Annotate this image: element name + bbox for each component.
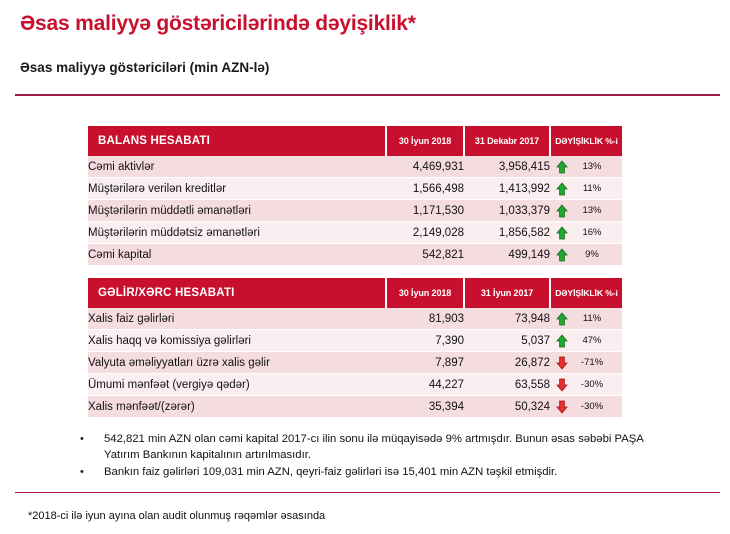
arrow-up-icon xyxy=(556,334,568,348)
row-value-2: 5,037 xyxy=(464,330,550,352)
arrow-up-icon xyxy=(556,160,568,174)
arrow-up-icon xyxy=(556,204,568,218)
row-label: Xalis faiz gəlirləri xyxy=(88,308,386,330)
row-label: Cəmi kapital xyxy=(88,244,386,266)
row-change-pct: 11% xyxy=(568,183,622,194)
row-change-pct: 11% xyxy=(568,313,622,324)
table-header-row: BALANS HESABATI 30 İyun 2018 31 Dekabr 2… xyxy=(88,126,622,156)
income-statement-body: Xalis faiz gəlirləri 81,903 73,948 11% X… xyxy=(88,308,622,418)
row-change: 11% xyxy=(550,308,622,330)
footnote: *2018-ci ilə iyun ayına olan audit olunm… xyxy=(28,510,325,522)
table-row: Ümumi mənfəət (vergiyə qədər) 44,227 63,… xyxy=(88,374,622,396)
row-label: Valyuta əməliyyatları üzrə xalis gəlir xyxy=(88,352,386,374)
arrow-down-icon xyxy=(556,356,568,370)
income-statement-table: GƏLİR/XƏRC HESABATI 30 İyun 2018 31 İyun… xyxy=(88,278,622,418)
bullet-marker: • xyxy=(78,465,104,480)
arrow-down-icon xyxy=(556,378,568,392)
row-label: Müştərilərin müddətli əmanətləri xyxy=(88,200,386,222)
arrow-down-icon xyxy=(556,400,568,414)
row-change-pct: -30% xyxy=(568,379,622,390)
table-row: Xalis haqq və komissiya gəlirləri 7,390 … xyxy=(88,330,622,352)
arrow-up-icon xyxy=(556,226,568,240)
row-change-pct: -71% xyxy=(568,357,622,368)
table-row: Cəmi aktivlər 4,469,931 3,958,415 13% xyxy=(88,156,622,178)
row-change: 47% xyxy=(550,330,622,352)
row-value-2: 1,413,992 xyxy=(464,178,550,200)
divider-bottom xyxy=(15,492,720,493)
row-label: Xalis mənfəət/(zərər) xyxy=(88,396,386,418)
bullet-text: Bankın faiz gəlirləri 109,031 min AZN, q… xyxy=(104,465,678,481)
row-value-2: 73,948 xyxy=(464,308,550,330)
table-header-row: GƏLİR/XƏRC HESABATI 30 İyun 2018 31 İyun… xyxy=(88,278,622,308)
row-value-2: 1,033,379 xyxy=(464,200,550,222)
divider-top xyxy=(15,94,720,96)
row-value-1: 44,227 xyxy=(386,374,464,396)
row-change-pct: 9% xyxy=(568,249,622,260)
table-row: Müştərilərin müddətli əmanətləri 1,171,5… xyxy=(88,200,622,222)
balance-sheet-header: BALANS HESABATI 30 İyun 2018 31 Dekabr 2… xyxy=(88,126,622,156)
row-value-1: 7,897 xyxy=(386,352,464,374)
financial-tables: BALANS HESABATI 30 İyun 2018 31 Dekabr 2… xyxy=(88,126,622,418)
row-value-2: 26,872 xyxy=(464,352,550,374)
row-change-pct: 47% xyxy=(568,335,622,346)
row-change: 9% xyxy=(550,244,622,266)
row-label: Xalis haqq və komissiya gəlirləri xyxy=(88,330,386,352)
row-change: 16% xyxy=(550,222,622,244)
slide-root: Əsas maliyyə göstəricilərində dəyişiklik… xyxy=(0,0,730,534)
row-change: -71% xyxy=(550,352,622,374)
row-change: 13% xyxy=(550,200,622,222)
row-value-1: 1,566,498 xyxy=(386,178,464,200)
arrow-up-icon xyxy=(556,312,568,326)
row-change-pct: 13% xyxy=(568,205,622,216)
income-header-col1: 30 İyun 2018 xyxy=(386,278,464,308)
income-header-label: GƏLİR/XƏRC HESABATI xyxy=(88,278,386,308)
balance-sheet-body: Cəmi aktivlər 4,469,931 3,958,415 13% Mü… xyxy=(88,156,622,266)
row-value-1: 35,394 xyxy=(386,396,464,418)
row-change: -30% xyxy=(550,374,622,396)
row-change: -30% xyxy=(550,396,622,418)
table-row: Cəmi kapital 542,821 499,149 9% xyxy=(88,244,622,266)
row-change-pct: 16% xyxy=(568,227,622,238)
row-label: Müştərilərin müddətsiz əmanətləri xyxy=(88,222,386,244)
page-title: Əsas maliyyə göstəricilərində dəyişiklik… xyxy=(20,12,416,36)
notes-list: • 542,821 min AZN olan cəmi kapital 2017… xyxy=(78,432,678,483)
table-row: Valyuta əməliyyatları üzrə xalis gəlir 7… xyxy=(88,352,622,374)
table-row: Müştərilərin müddətsiz əmanətləri 2,149,… xyxy=(88,222,622,244)
row-change-pct: 13% xyxy=(568,161,622,172)
bullet-marker: • xyxy=(78,432,104,447)
row-value-1: 1,171,530 xyxy=(386,200,464,222)
page-subtitle: Əsas maliyyə göstəriciləri (min AZN-lə) xyxy=(20,60,269,75)
table-gap xyxy=(88,266,622,278)
row-value-2: 499,149 xyxy=(464,244,550,266)
income-statement-header: GƏLİR/XƏRC HESABATI 30 İyun 2018 31 İyun… xyxy=(88,278,622,308)
row-value-1: 4,469,931 xyxy=(386,156,464,178)
balance-header-col2: 31 Dekabr 2017 xyxy=(464,126,550,156)
table-row: Xalis mənfəət/(zərər) 35,394 50,324 -30% xyxy=(88,396,622,418)
row-change: 11% xyxy=(550,178,622,200)
arrow-up-icon xyxy=(556,182,568,196)
row-value-1: 542,821 xyxy=(386,244,464,266)
balance-header-col1: 30 İyun 2018 xyxy=(386,126,464,156)
row-value-1: 7,390 xyxy=(386,330,464,352)
row-value-1: 2,149,028 xyxy=(386,222,464,244)
row-value-2: 63,558 xyxy=(464,374,550,396)
table-row: Müştərilərə verilən kreditlər 1,566,498 … xyxy=(88,178,622,200)
income-header-col2: 31 İyun 2017 xyxy=(464,278,550,308)
row-label: Ümumi mənfəət (vergiyə qədər) xyxy=(88,374,386,396)
income-header-change: DƏYİŞİKLİK %-i xyxy=(550,278,622,308)
list-item: • Bankın faiz gəlirləri 109,031 min AZN,… xyxy=(78,465,678,481)
balance-header-label: BALANS HESABATI xyxy=(88,126,386,156)
row-change: 13% xyxy=(550,156,622,178)
list-item: • 542,821 min AZN olan cəmi kapital 2017… xyxy=(78,432,678,463)
balance-header-change: DƏYİŞİKLİK %-i xyxy=(550,126,622,156)
row-change-pct: -30% xyxy=(568,401,622,412)
row-value-2: 3,958,415 xyxy=(464,156,550,178)
row-value-1: 81,903 xyxy=(386,308,464,330)
row-value-2: 1,856,582 xyxy=(464,222,550,244)
row-value-2: 50,324 xyxy=(464,396,550,418)
bullet-text: 542,821 min AZN olan cəmi kapital 2017-c… xyxy=(104,432,678,463)
arrow-up-icon xyxy=(556,248,568,262)
balance-sheet-table: BALANS HESABATI 30 İyun 2018 31 Dekabr 2… xyxy=(88,126,622,266)
row-label: Cəmi aktivlər xyxy=(88,156,386,178)
table-row: Xalis faiz gəlirləri 81,903 73,948 11% xyxy=(88,308,622,330)
row-label: Müştərilərə verilən kreditlər xyxy=(88,178,386,200)
